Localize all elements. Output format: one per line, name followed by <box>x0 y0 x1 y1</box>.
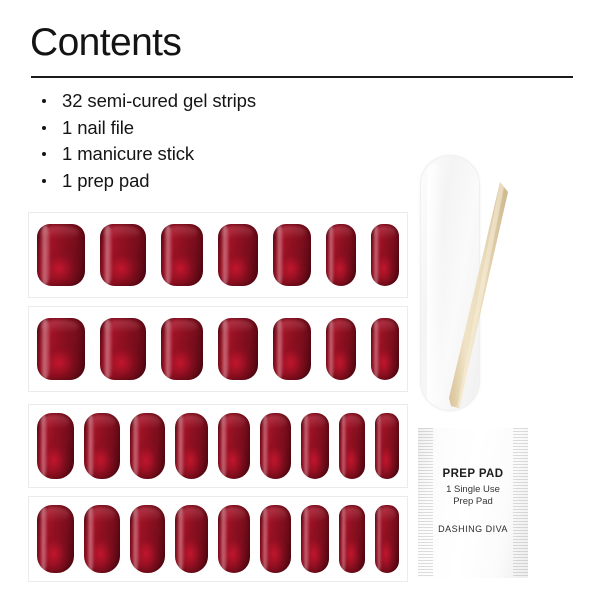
nail-strip <box>37 318 85 380</box>
nail-strip <box>273 224 311 286</box>
page-title: Contents <box>30 20 181 66</box>
nail-strip-row <box>28 212 408 298</box>
title-divider <box>31 76 573 78</box>
nail-strip <box>260 413 291 479</box>
nail-strip <box>161 318 203 380</box>
nail-strip <box>100 224 146 286</box>
nail-strip <box>326 224 356 286</box>
brand-name: DASHING DIVA <box>418 524 528 534</box>
list-item: 32 semi-cured gel strips <box>33 88 393 115</box>
nail-strip <box>218 413 250 479</box>
nail-strip-row <box>28 496 408 582</box>
nail-strip <box>37 505 74 573</box>
list-item: 1 prep pad <box>33 168 393 195</box>
nail-strip <box>339 413 365 479</box>
nail-strip <box>84 413 120 479</box>
list-item: 1 manicure stick <box>33 141 393 168</box>
prep-pad-packet: PREP PAD 1 Single Use Prep Pad DASHING D… <box>418 428 528 578</box>
contents-list: 32 semi-cured gel strips 1 nail file 1 m… <box>33 88 393 194</box>
nail-strip <box>37 413 74 479</box>
nail-strip <box>260 505 291 573</box>
nail-strip <box>218 318 258 380</box>
nail-strip <box>301 413 329 479</box>
nail-strip <box>100 318 146 380</box>
list-item: 1 nail file <box>33 115 393 142</box>
nail-strip <box>218 505 250 573</box>
nail-strip-row <box>28 306 408 392</box>
nail-strip <box>84 505 120 573</box>
nail-strip <box>37 224 85 286</box>
list-item-label: 1 manicure stick <box>62 143 194 164</box>
list-item-label: 32 semi-cured gel strips <box>62 90 256 111</box>
nail-strip <box>375 505 399 573</box>
nail-strip <box>218 224 258 286</box>
nail-file <box>420 155 480 411</box>
nail-strip <box>130 413 165 479</box>
nail-strip-row <box>28 404 408 488</box>
prep-pad-subtitle-line-1: 1 Single Use <box>418 484 528 496</box>
nail-strip <box>175 505 208 573</box>
nail-strip <box>326 318 356 380</box>
nail-strip <box>175 413 208 479</box>
nail-strip <box>161 224 203 286</box>
prep-pad-title: PREP PAD <box>418 468 528 480</box>
list-item-label: 1 nail file <box>62 117 134 138</box>
nail-strip <box>371 224 399 286</box>
nail-strip <box>371 318 399 380</box>
prep-pad-subtitle-line-2: Prep Pad <box>418 496 528 508</box>
nail-strip <box>339 505 365 573</box>
list-item-label: 1 prep pad <box>62 170 149 191</box>
prep-pad-subtitle: 1 Single Use Prep Pad <box>418 484 528 507</box>
nail-strip <box>130 505 165 573</box>
nail-strip <box>375 413 399 479</box>
prep-pad-text-block: PREP PAD 1 Single Use Prep Pad DASHING D… <box>418 468 528 534</box>
nail-strip <box>273 318 311 380</box>
nail-strip <box>301 505 329 573</box>
